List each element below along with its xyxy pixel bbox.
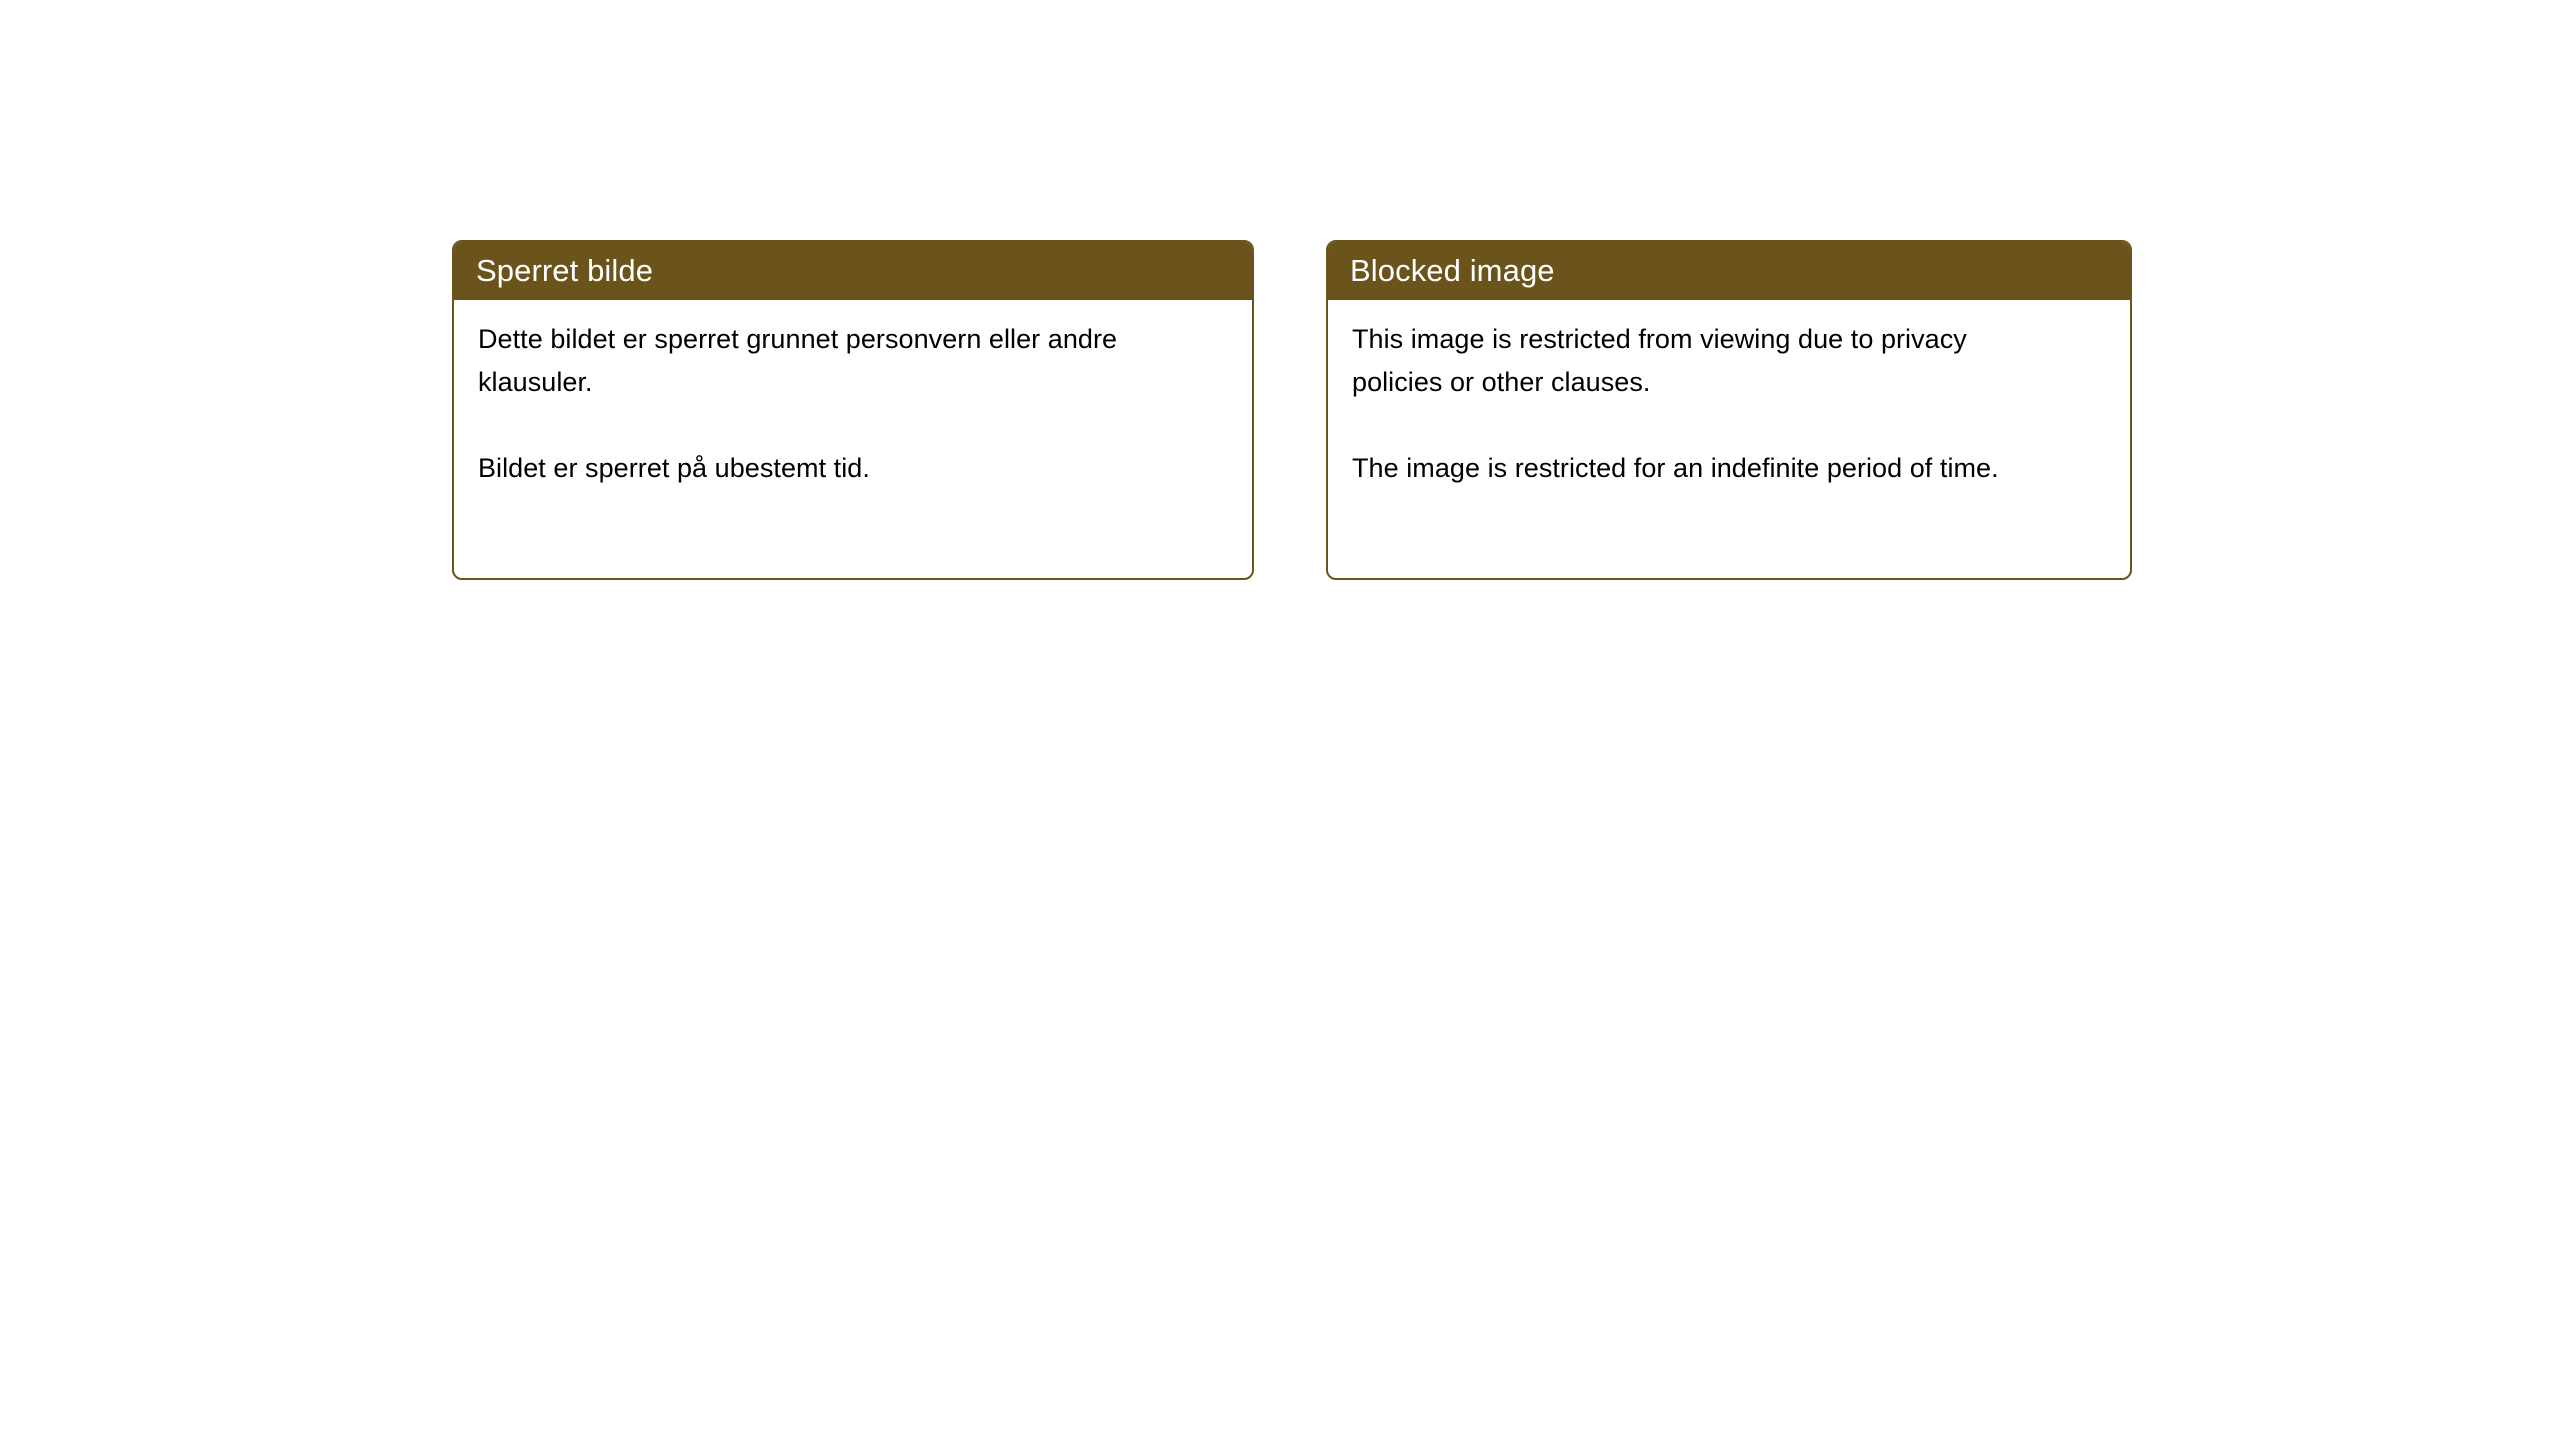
card-body-en: This image is restricted from viewing du… [1328, 300, 2130, 490]
card-paragraph-no-1: Dette bildet er sperret grunnet personve… [478, 318, 1158, 404]
card-title-en: Blocked image [1350, 254, 1555, 288]
card-header-no: Sperret bilde [454, 242, 1252, 300]
card-body-no: Dette bildet er sperret grunnet personve… [454, 300, 1252, 490]
page-root: Sperret bilde Dette bildet er sperret gr… [0, 0, 2560, 1440]
card-title-no: Sperret bilde [476, 254, 653, 288]
card-paragraph-no-2: Bildet er sperret på ubestemt tid. [478, 447, 1158, 490]
card-paragraph-en-2: The image is restricted for an indefinit… [1352, 447, 2052, 490]
blocked-image-notice-en: Blocked image This image is restricted f… [1326, 240, 2132, 580]
card-header-en: Blocked image [1328, 242, 2130, 300]
card-paragraph-en-1: This image is restricted from viewing du… [1352, 318, 2052, 404]
blocked-image-notice-no: Sperret bilde Dette bildet er sperret gr… [452, 240, 1254, 580]
